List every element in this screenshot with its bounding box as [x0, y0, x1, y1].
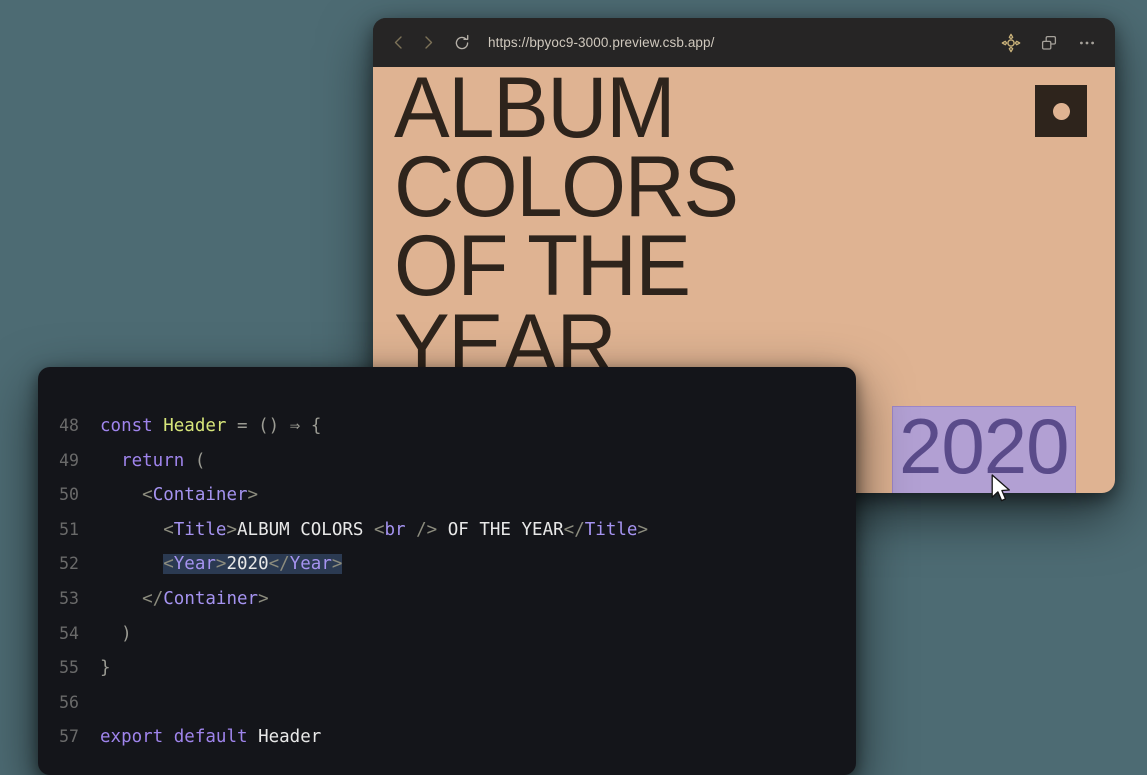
code-token [100, 485, 142, 505]
code-token: ( [195, 451, 206, 471]
line-number: 50 [38, 478, 100, 513]
code-token [163, 727, 174, 747]
line-number: 53 [38, 582, 100, 617]
code-text[interactable]: const Header = () ⇒ { [100, 409, 321, 444]
code-token: > [258, 589, 269, 609]
code-token [100, 520, 163, 540]
forward-button[interactable] [413, 28, 443, 58]
code-token: < [163, 520, 174, 540]
code-token [153, 416, 164, 436]
code-token: Header [163, 416, 226, 436]
code-token: Header [258, 727, 321, 747]
line-number: 49 [38, 444, 100, 479]
line-number: 51 [38, 513, 100, 548]
code-token: ) [121, 624, 132, 644]
code-line[interactable]: 50 <Container> [38, 478, 856, 513]
code-token [184, 451, 195, 471]
page-title: ALBUM COLORS OF THE YEAR [394, 69, 738, 385]
code-token: > [637, 520, 648, 540]
code-line[interactable]: 56 [38, 686, 856, 721]
line-number: 57 [38, 720, 100, 755]
code-token: / [279, 554, 290, 574]
code-token [406, 520, 417, 540]
url-bar[interactable]: https://bpyoc9-3000.preview.csb.app/ [488, 35, 997, 50]
code-text[interactable]: ) [100, 617, 132, 652]
code-line[interactable]: 49 return ( [38, 444, 856, 479]
browser-toolbar: https://bpyoc9-3000.preview.csb.app/ [373, 18, 1115, 67]
code-token [300, 416, 311, 436]
code-text[interactable]: } [100, 651, 111, 686]
code-token: { [311, 416, 322, 436]
code-text[interactable]: <Container> [100, 478, 258, 513]
reload-icon [453, 34, 471, 52]
code-token: < [269, 554, 280, 574]
chevron-left-icon [390, 34, 407, 51]
code-token: Container [163, 589, 258, 609]
code-token: Container [153, 485, 248, 505]
code-token: default [174, 727, 248, 747]
line-number: 55 [38, 651, 100, 686]
code-text[interactable]: <Title>ALBUM COLORS <br /> OF THE YEAR</… [100, 513, 648, 548]
code-token: return [121, 451, 184, 471]
code-token [248, 416, 259, 436]
code-token: } [100, 658, 111, 678]
code-line[interactable]: 54 ) [38, 617, 856, 652]
code-token: > [332, 554, 343, 574]
code-line[interactable]: 53 </Container> [38, 582, 856, 617]
vinyl-hole-icon [1053, 103, 1070, 120]
code-token: > [248, 485, 259, 505]
code-token: > [216, 554, 227, 574]
code-token: < [142, 485, 153, 505]
code-token: / [574, 520, 585, 540]
line-number: 54 [38, 617, 100, 652]
code-token: < [163, 554, 174, 574]
back-button[interactable] [383, 28, 413, 58]
year-label[interactable]: 2020 [892, 406, 1076, 493]
code-token: < [142, 589, 153, 609]
vinyl-record-badge[interactable] [1035, 85, 1087, 137]
code-token [279, 416, 290, 436]
code-line[interactable]: 48const Header = () ⇒ { [38, 409, 856, 444]
code-text[interactable]: </Container> [100, 582, 269, 617]
code-token [226, 416, 237, 436]
code-token: 2020 [226, 554, 268, 574]
code-token: Year [174, 554, 216, 574]
code-editor-panel: 48const Header = () ⇒ {49 return (50 <Co… [38, 367, 856, 775]
code-token: / [153, 589, 164, 609]
code-token: br [385, 520, 406, 540]
code-line[interactable]: 51 <Title>ALBUM COLORS <br /> OF THE YEA… [38, 513, 856, 548]
code-line[interactable]: 57export default Header [38, 720, 856, 755]
code-token: Year [290, 554, 332, 574]
code-text[interactable]: <Year>2020</Year> [100, 547, 342, 582]
chevron-right-icon [420, 34, 437, 51]
code-token [100, 624, 121, 644]
code-token: < [564, 520, 575, 540]
code-token: > [226, 520, 237, 540]
code-token: export [100, 727, 163, 747]
reload-button[interactable] [447, 28, 477, 58]
line-number: 48 [38, 409, 100, 444]
code-text[interactable]: return ( [100, 444, 205, 479]
code-token [100, 554, 163, 574]
duplicate-window-icon[interactable] [1035, 29, 1063, 57]
target-crosshair-icon[interactable] [997, 29, 1025, 57]
code-line[interactable]: 55} [38, 651, 856, 686]
line-number: 52 [38, 547, 100, 582]
code-token: < [374, 520, 385, 540]
code-token: () [258, 416, 279, 436]
code-token: Title [174, 520, 227, 540]
code-token: /> [416, 520, 437, 540]
code-text[interactable]: export default Header [100, 720, 321, 755]
code-token: ALBUM COLORS [237, 520, 374, 540]
code-token: ⇒ [290, 416, 301, 436]
toolbar-actions [997, 29, 1101, 57]
code-token: = [237, 416, 248, 436]
code-token: const [100, 416, 153, 436]
code-token [100, 589, 142, 609]
code-line[interactable]: 52 <Year>2020</Year> [38, 547, 856, 582]
line-number: 56 [38, 686, 100, 721]
code-token [248, 727, 259, 747]
code-token [100, 451, 121, 471]
code-token: OF THE YEAR [437, 520, 563, 540]
more-options-icon[interactable] [1073, 29, 1101, 57]
code-token: Title [585, 520, 638, 540]
code-lines-container[interactable]: 48const Header = () ⇒ {49 return (50 <Co… [38, 409, 856, 755]
